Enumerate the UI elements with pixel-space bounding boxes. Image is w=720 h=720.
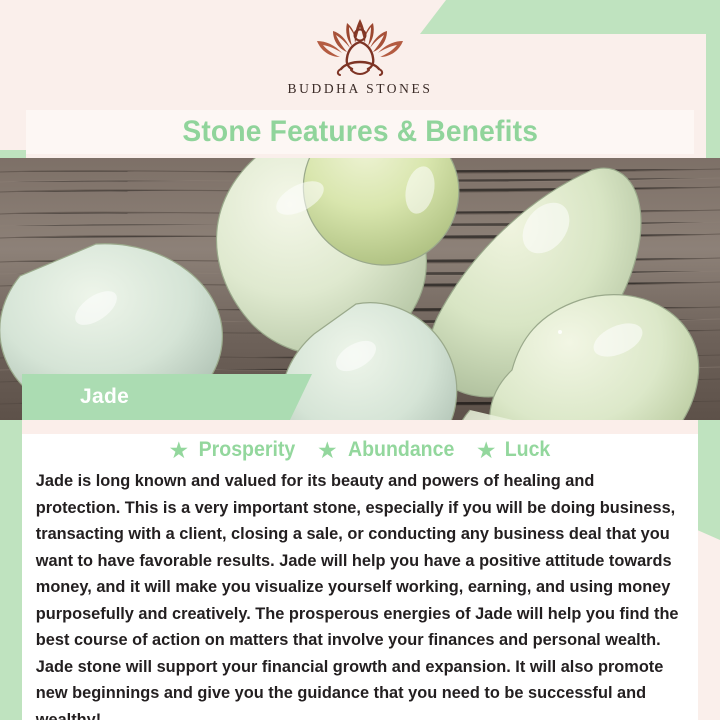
stone-description: Jade is long known and valued for its be… bbox=[22, 468, 688, 720]
page-title: Stone Features & Benefits bbox=[182, 115, 538, 149]
star-icon: ★ bbox=[476, 439, 497, 462]
benefit-label: Abundance bbox=[348, 438, 454, 462]
benefit-item-abundance: ★ Abundance bbox=[317, 438, 458, 462]
benefit-item-prosperity: ★ Prosperity bbox=[168, 438, 299, 462]
benefit-label: Luck bbox=[504, 438, 550, 462]
star-icon: ★ bbox=[168, 439, 189, 462]
card-top-strip bbox=[22, 420, 698, 434]
star-icon: ★ bbox=[317, 439, 338, 462]
decor-accent-left-rail bbox=[0, 384, 22, 684]
brand-name: BUDDHA STONES bbox=[288, 81, 433, 97]
benefits-row: ★ Prosperity ★ Abundance ★ Luck bbox=[22, 434, 698, 468]
poster-root: BUDDHA STONES Stone Features & Benefits bbox=[0, 0, 720, 720]
benefit-item-luck: ★ Luck bbox=[476, 438, 552, 462]
benefit-label: Prosperity bbox=[199, 438, 296, 462]
hero-image: Jade bbox=[0, 158, 720, 420]
page-title-bar: Stone Features & Benefits bbox=[26, 110, 694, 154]
stone-name-tag: Jade bbox=[22, 374, 312, 420]
info-card: ★ Prosperity ★ Abundance ★ Luck Jade is … bbox=[22, 420, 698, 720]
stone-name: Jade bbox=[80, 385, 129, 409]
brand-logo: BUDDHA STONES bbox=[0, 0, 720, 110]
lotus-meditation-icon bbox=[295, 13, 425, 79]
